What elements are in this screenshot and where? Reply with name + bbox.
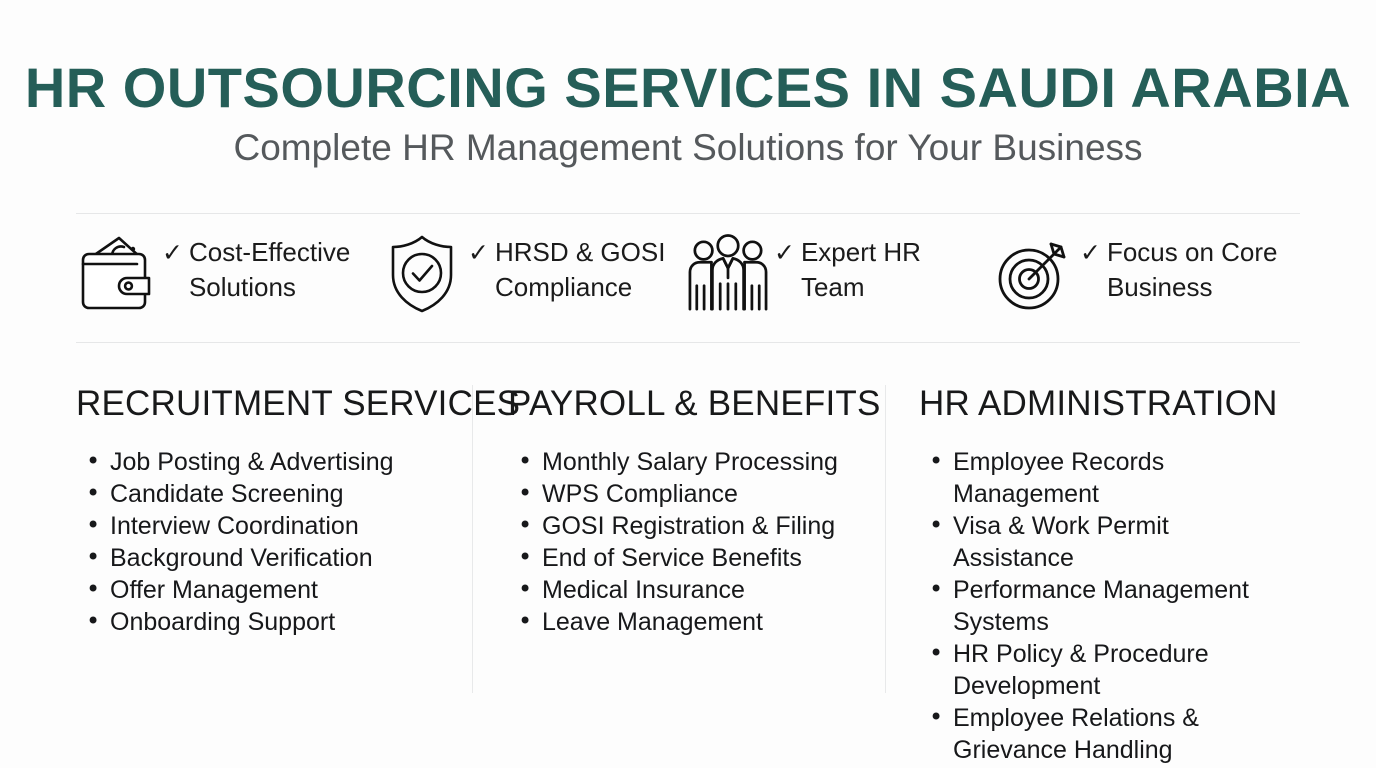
check-icon: ✓ <box>774 232 795 272</box>
wallet-icon <box>76 232 156 316</box>
list-item: Visa & Work Permit Assistance <box>953 510 1274 574</box>
check-icon: ✓ <box>1080 232 1101 272</box>
feature-hrsd-gosi-compliance: ✓ HRSD & GOSI Compliance <box>382 226 688 316</box>
divider-bottom <box>76 342 1300 343</box>
list-item: Monthly Salary Processing <box>542 446 860 478</box>
feature-label: Expert HR Team <box>801 232 976 305</box>
feature-label: Cost-Effective Solutions <box>189 232 364 305</box>
list-item: Leave Management <box>542 606 860 638</box>
list-item: WPS Compliance <box>542 478 860 510</box>
list-item: GOSI Registration & Filing <box>542 510 860 542</box>
list-item: Interview Coordination <box>110 510 447 542</box>
column-title: PAYROLL & BENEFITS <box>508 385 860 424</box>
header: HR OUTSOURCING SERVICES IN SAUDI ARABIA … <box>0 58 1376 169</box>
column-title: RECRUITMENT SERVICES <box>76 385 447 424</box>
list-item: HR Policy & Procedure Development <box>953 638 1274 702</box>
list-item: Medical Insurance <box>542 574 860 606</box>
list-item: Job Posting & Advertising <box>110 446 447 478</box>
service-columns: RECRUITMENT SERVICES Job Posting & Adver… <box>76 385 1300 695</box>
feature-label: HRSD & GOSI Compliance <box>495 232 670 305</box>
feature-cost-effective: ✓ Cost-Effective Solutions <box>76 226 382 316</box>
page-title: HR OUTSOURCING SERVICES IN SAUDI ARABIA <box>0 58 1376 117</box>
column-list: Employee Records Management Visa & Work … <box>919 446 1274 768</box>
column-list: Job Posting & Advertising Candidate Scre… <box>76 446 447 638</box>
divider-top <box>76 213 1300 214</box>
check-icon: ✓ <box>468 232 489 272</box>
features-strip: ✓ Cost-Effective Solutions ✓ HRSD & GOSI… <box>76 226 1300 336</box>
column-payroll-benefits: PAYROLL & BENEFITS Monthly Salary Proces… <box>473 385 886 695</box>
column-recruitment-services: RECRUITMENT SERVICES Job Posting & Adver… <box>76 385 473 695</box>
check-icon: ✓ <box>162 232 183 272</box>
list-item: Onboarding Support <box>110 606 447 638</box>
page-subtitle: Complete HR Management Solutions for You… <box>0 127 1376 168</box>
list-item: Offer Management <box>110 574 447 606</box>
feature-expert-hr-team: ✓ Expert HR Team <box>688 226 994 316</box>
list-item: End of Service Benefits <box>542 542 860 574</box>
list-item: Background Verification <box>110 542 447 574</box>
infographic-page: HR OUTSOURCING SERVICES IN SAUDI ARABIA … <box>0 0 1376 768</box>
feature-label: Focus on Core Business <box>1107 232 1282 305</box>
column-list: Monthly Salary Processing WPS Compliance… <box>508 446 860 638</box>
list-item: Performance Management Systems <box>953 574 1274 638</box>
shield-check-icon <box>382 232 462 316</box>
column-hr-administration: HR ADMINISTRATION Employee Records Manag… <box>886 385 1300 695</box>
team-people-icon <box>688 232 768 316</box>
list-item: Candidate Screening <box>110 478 447 510</box>
list-item: Employee Relations & Grievance Handling <box>953 702 1274 766</box>
list-item: Employee Records Management <box>953 446 1274 510</box>
target-arrow-icon <box>994 232 1074 316</box>
feature-focus-core-business: ✓ Focus on Core Business <box>994 226 1300 316</box>
column-title: HR ADMINISTRATION <box>919 385 1274 424</box>
